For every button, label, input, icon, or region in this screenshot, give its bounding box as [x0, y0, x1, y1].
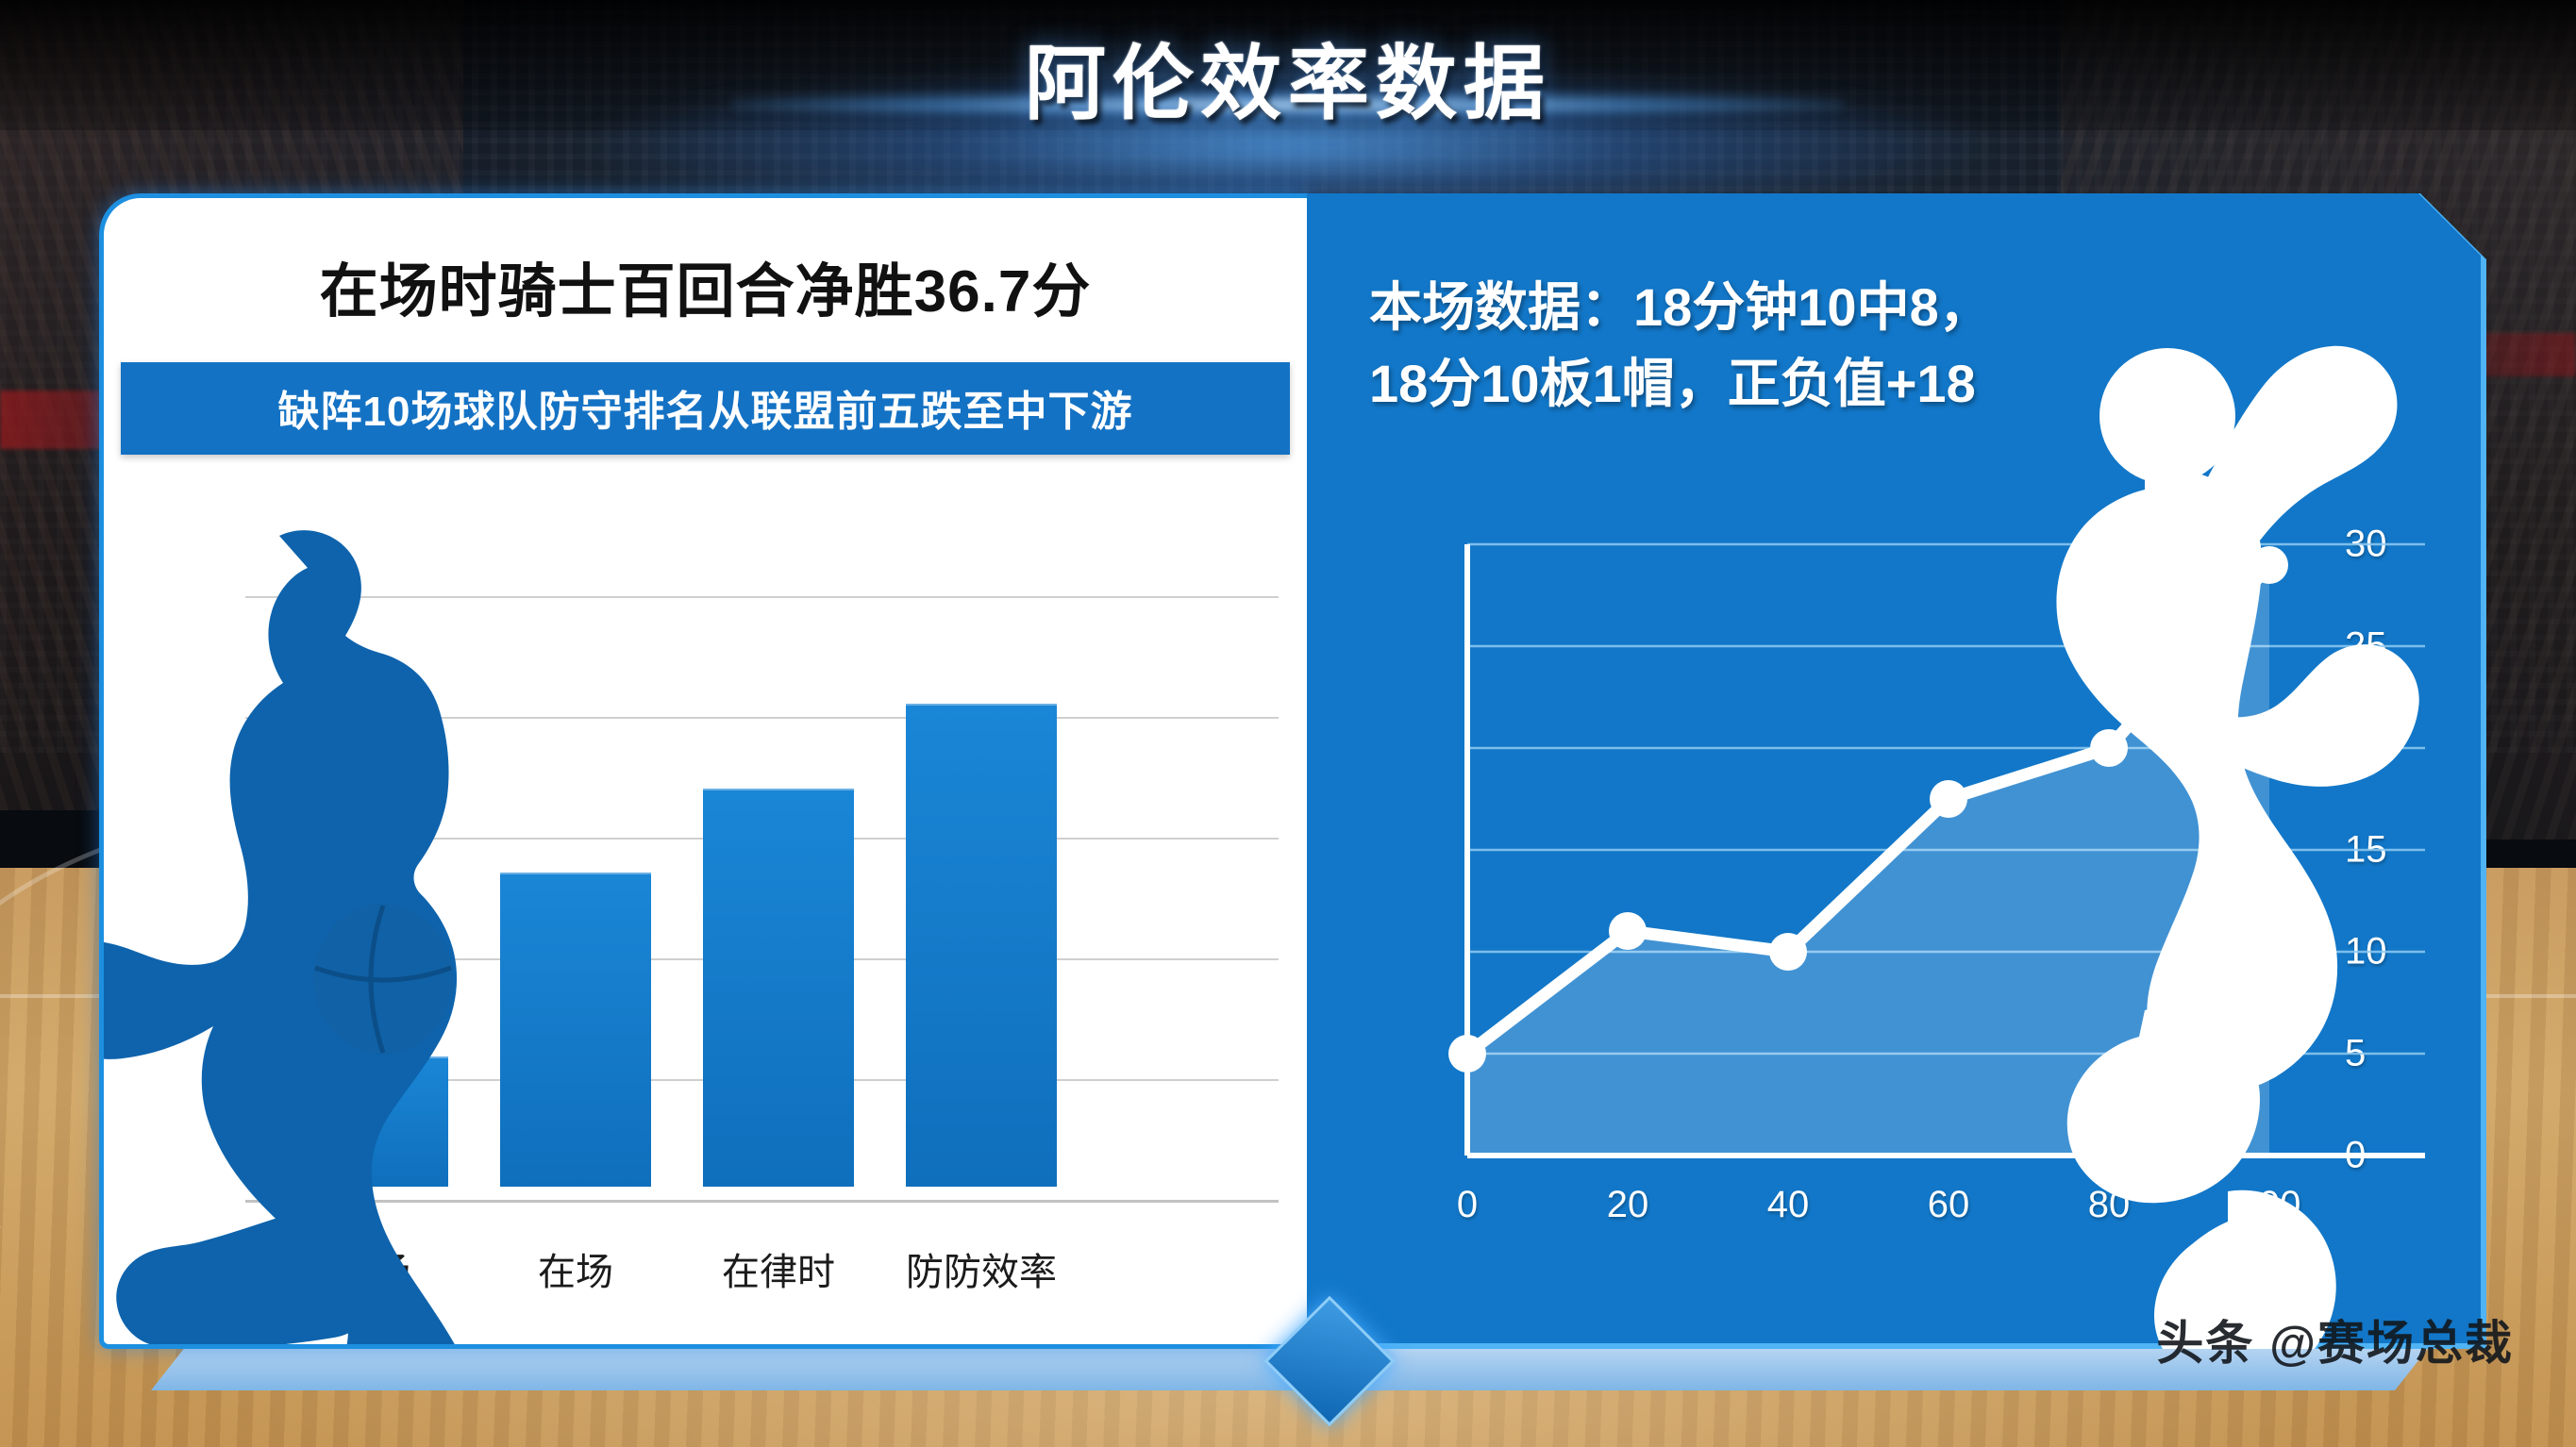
line-chart-plot — [1307, 505, 2486, 1316]
bar-segment — [703, 789, 854, 1187]
game-stat-text: 本场数据：18分钟10中8， 18分10板1帽，正负值+18 — [1369, 269, 2332, 422]
line-chart: 0 5 10 15 20 25 30 0 20 40 60 80 100 — [1307, 505, 2486, 1316]
right-stats-panel: 本场数据：18分钟10中8， 18分10板1帽，正负值+18 0 5 10 15… — [1307, 193, 2486, 1349]
bar-segment — [500, 873, 651, 1187]
bar-segment — [906, 704, 1057, 1187]
left-panel-header: 在场时骑士百回合净胜36.7分 — [104, 198, 1307, 334]
left-panel-subtitle-banner: 缺阵10场球队防守排名从联盟前五跌至中下游 — [121, 362, 1290, 455]
bar-baseline — [245, 1200, 1279, 1203]
bar-chart: 现场 在场 在律时 防防效率 — [104, 566, 1307, 1339]
left-stats-panel: 在场时骑士百回合净胜36.7分 缺阵10场球队防守排名从联盟前五跌至中下游 现场… — [99, 193, 1307, 1349]
bar-category-label: 防防效率 — [859, 1241, 1104, 1296]
bar-segment — [297, 1056, 448, 1187]
watermark: 头条 @赛场总裁 — [2156, 1306, 2514, 1373]
bar-gridline — [245, 596, 1279, 598]
game-stat-line-1: 本场数据：18分钟10中8， — [1369, 269, 2332, 345]
game-stat-line-2: 18分10板1帽，正负值+18 — [1369, 345, 2332, 422]
left-panel-title: 在场时骑士百回合净胜36.7分 — [142, 243, 1269, 328]
bar-gridline — [245, 717, 1279, 719]
page-title: 阿伦效率数据 — [0, 17, 2576, 135]
content-panels: 在场时骑士百回合净胜36.7分 缺阵10场球队防守排名从联盟前五跌至中下游 现场… — [99, 193, 2486, 1349]
area-fill — [1467, 565, 2269, 1156]
